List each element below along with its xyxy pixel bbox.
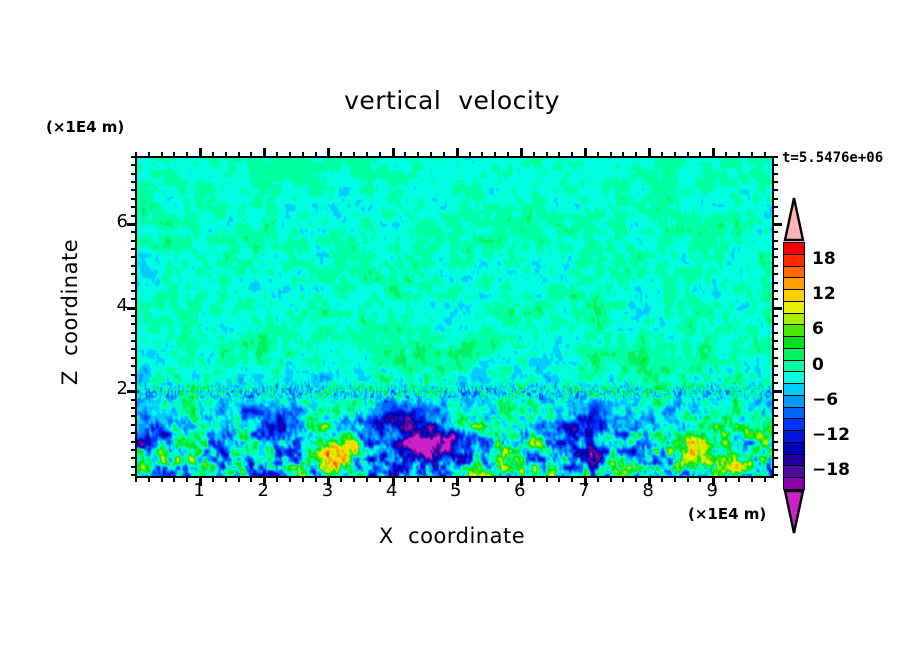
tick-mark (131, 189, 137, 191)
tick-mark (772, 449, 778, 451)
tick-mark (131, 332, 137, 334)
colorbar-band (783, 242, 805, 255)
tick-mark (597, 152, 599, 158)
tick-mark (173, 152, 175, 158)
tick-mark (622, 152, 624, 158)
colorbar-band (783, 395, 805, 408)
vertical-velocity-field (137, 158, 772, 476)
tick-mark (302, 476, 304, 482)
tick-mark (131, 248, 137, 250)
tick-mark (131, 348, 137, 350)
tick-mark (131, 215, 137, 217)
colorbar-band (783, 371, 805, 384)
tick-mark (772, 407, 778, 409)
tick-mark (772, 415, 778, 417)
colorbar-band (783, 360, 805, 373)
colorbar-tick-label: −6 (812, 390, 838, 410)
colorbar-band (783, 266, 805, 279)
colorbar-tick-label: −12 (812, 425, 850, 445)
tick-mark (131, 273, 137, 275)
tick-mark (353, 476, 355, 482)
x-tick-label: 4 (372, 480, 412, 501)
tick-mark (131, 432, 137, 434)
colorbar-band (783, 430, 805, 443)
x-tick-label: 8 (628, 480, 668, 501)
colorbar-band (783, 301, 805, 314)
tick-mark (417, 152, 419, 158)
tick-mark (131, 256, 137, 258)
x-tick-label: 3 (307, 480, 347, 501)
tick-mark (772, 189, 778, 191)
tick-mark (131, 290, 137, 292)
tick-mark (772, 332, 778, 334)
tick-mark (148, 152, 150, 158)
tick-mark (199, 148, 202, 158)
tick-mark (558, 476, 560, 482)
colorbar-band (783, 324, 805, 337)
tick-mark (131, 156, 137, 158)
tick-mark (772, 181, 778, 183)
tick-mark (772, 390, 782, 393)
tick-mark (699, 152, 701, 158)
tick-mark (340, 152, 342, 158)
tick-mark (507, 152, 509, 158)
tick-mark (289, 152, 291, 158)
tick-mark (131, 181, 137, 183)
tick-mark (366, 152, 368, 158)
tick-mark (772, 432, 778, 434)
tick-mark (772, 231, 778, 233)
tick-mark (772, 206, 778, 208)
tick-mark (772, 399, 778, 401)
tick-mark (772, 273, 778, 275)
tick-mark (772, 256, 778, 258)
tick-mark (131, 340, 137, 342)
tick-mark (135, 476, 137, 482)
tick-mark (131, 449, 137, 451)
tick-mark (161, 476, 163, 482)
tick-mark (772, 457, 778, 459)
y-tick-label: 2 (100, 378, 128, 399)
tick-mark (161, 152, 163, 158)
tick-mark (353, 152, 355, 158)
tick-mark (772, 357, 778, 359)
tick-mark (131, 198, 137, 200)
colorbar-band (783, 418, 805, 431)
colorbar-band (783, 254, 805, 267)
tick-mark (772, 323, 778, 325)
tick-mark (772, 156, 778, 158)
tick-mark (494, 476, 496, 482)
tick-mark (772, 265, 778, 267)
tick-mark (404, 152, 406, 158)
y-axis-title: Z coordinate (58, 212, 82, 412)
colorbar-band (783, 289, 805, 302)
tick-mark (772, 248, 778, 250)
tick-mark (131, 323, 137, 325)
tick-mark (610, 152, 612, 158)
tick-mark (725, 152, 727, 158)
tick-mark (276, 152, 278, 158)
tick-mark (772, 282, 778, 284)
tick-mark (772, 290, 778, 292)
colorbar-band (783, 465, 805, 478)
tick-mark (131, 415, 137, 417)
colorbar-band (783, 407, 805, 420)
tick-mark (481, 152, 483, 158)
tick-mark (131, 265, 137, 267)
tick-mark (481, 476, 483, 482)
tick-mark (687, 476, 689, 482)
tick-mark (738, 152, 740, 158)
tick-mark (772, 474, 778, 476)
tick-mark (772, 307, 782, 310)
tick-mark (772, 348, 778, 350)
tick-mark (186, 152, 188, 158)
tick-mark (430, 152, 432, 158)
colorbar-tick-label: 0 (812, 355, 824, 375)
tick-mark (366, 476, 368, 482)
time-annotation: t=5.5476e+06 (782, 150, 883, 166)
tick-mark (751, 152, 753, 158)
colorbar-band (783, 313, 805, 326)
tick-mark (225, 152, 227, 158)
tick-mark (443, 152, 445, 158)
tick-mark (456, 148, 459, 158)
tick-mark (131, 407, 137, 409)
tick-mark (764, 476, 766, 482)
colorbar-tick-label: 12 (812, 284, 836, 304)
tick-mark (127, 223, 137, 226)
x-tick-label: 1 (179, 480, 219, 501)
tick-mark (772, 298, 778, 300)
tick-mark (610, 476, 612, 482)
x-tick-label: 6 (500, 480, 540, 501)
tick-mark (772, 466, 778, 468)
x-tick-label: 9 (692, 480, 732, 501)
colorbar-tick-label: 6 (812, 319, 824, 339)
tick-mark (772, 441, 778, 443)
tick-mark (131, 382, 137, 384)
tick-mark (772, 198, 778, 200)
tick-mark (738, 476, 740, 482)
x-tick-label: 5 (436, 480, 476, 501)
tick-mark (546, 152, 548, 158)
x-tick-label: 2 (243, 480, 283, 501)
tick-mark (648, 148, 651, 158)
tick-mark (772, 315, 778, 317)
tick-mark (379, 152, 381, 158)
tick-mark (687, 152, 689, 158)
x-axis-units-label: (×1E4 m) (688, 505, 766, 523)
tick-mark (772, 340, 778, 342)
tick-mark (131, 315, 137, 317)
colorbar-under-arrow (783, 489, 805, 535)
tick-mark (131, 240, 137, 242)
tick-mark (131, 399, 137, 401)
colorbar-band (783, 348, 805, 361)
colorbar-band (783, 277, 805, 290)
tick-mark (127, 307, 137, 310)
tick-mark (315, 152, 317, 158)
tick-mark (131, 282, 137, 284)
tick-mark (584, 148, 587, 158)
tick-mark (131, 424, 137, 426)
tick-mark (417, 476, 419, 482)
tick-mark (622, 476, 624, 482)
tick-mark (131, 441, 137, 443)
tick-mark (772, 164, 778, 166)
tick-mark (131, 164, 137, 166)
figure-canvas: vertical velocity (×1E4 m) t=5.5476e+06 … (0, 0, 904, 654)
tick-mark (772, 173, 778, 175)
tick-mark (661, 152, 663, 158)
colorbar-band (783, 383, 805, 396)
colorbar-band (783, 454, 805, 467)
tick-mark (131, 457, 137, 459)
chart-title: vertical velocity (0, 86, 904, 115)
tick-mark (772, 240, 778, 242)
tick-mark (263, 148, 266, 158)
tick-mark (131, 365, 137, 367)
tick-mark (238, 152, 240, 158)
tick-mark (772, 382, 778, 384)
tick-mark (712, 148, 715, 158)
tick-mark (764, 152, 766, 158)
tick-mark (250, 152, 252, 158)
colorbar-over-arrow (783, 196, 805, 242)
tick-mark (127, 390, 137, 393)
y-tick-label: 4 (100, 295, 128, 316)
tick-mark (520, 148, 523, 158)
tick-mark (131, 474, 137, 476)
tick-mark (635, 152, 637, 158)
tick-mark (772, 424, 778, 426)
tick-mark (302, 152, 304, 158)
tick-mark (558, 152, 560, 158)
tick-mark (392, 148, 395, 158)
tick-mark (571, 152, 573, 158)
tick-mark (772, 365, 778, 367)
tick-mark (772, 374, 778, 376)
tick-mark (212, 152, 214, 158)
colorbar-tick-label: 18 (812, 249, 836, 269)
tick-mark (546, 476, 548, 482)
tick-mark (327, 148, 330, 158)
tick-mark (131, 298, 137, 300)
tick-mark (131, 374, 137, 376)
tick-mark (751, 476, 753, 482)
tick-mark (674, 152, 676, 158)
tick-mark (148, 476, 150, 482)
tick-mark (289, 476, 291, 482)
tick-mark (674, 476, 676, 482)
tick-mark (131, 231, 137, 233)
tick-mark (238, 476, 240, 482)
tick-mark (131, 466, 137, 468)
x-tick-label: 7 (564, 480, 604, 501)
tick-mark (225, 476, 227, 482)
y-tick-label: 6 (100, 211, 128, 232)
tick-mark (469, 152, 471, 158)
x-axis-title: X coordinate (0, 524, 904, 548)
colorbar-band (783, 442, 805, 455)
contour-plot-area (135, 156, 774, 478)
tick-mark (494, 152, 496, 158)
tick-mark (131, 357, 137, 359)
colorbar (783, 242, 805, 489)
tick-mark (533, 152, 535, 158)
tick-mark (131, 206, 137, 208)
tick-mark (772, 223, 782, 226)
colorbar-tick-label: −18 (812, 460, 850, 480)
y-axis-units-label: (×1E4 m) (46, 118, 124, 136)
tick-mark (430, 476, 432, 482)
tick-mark (173, 476, 175, 482)
tick-mark (772, 215, 778, 217)
tick-mark (131, 173, 137, 175)
colorbar-band (783, 336, 805, 349)
